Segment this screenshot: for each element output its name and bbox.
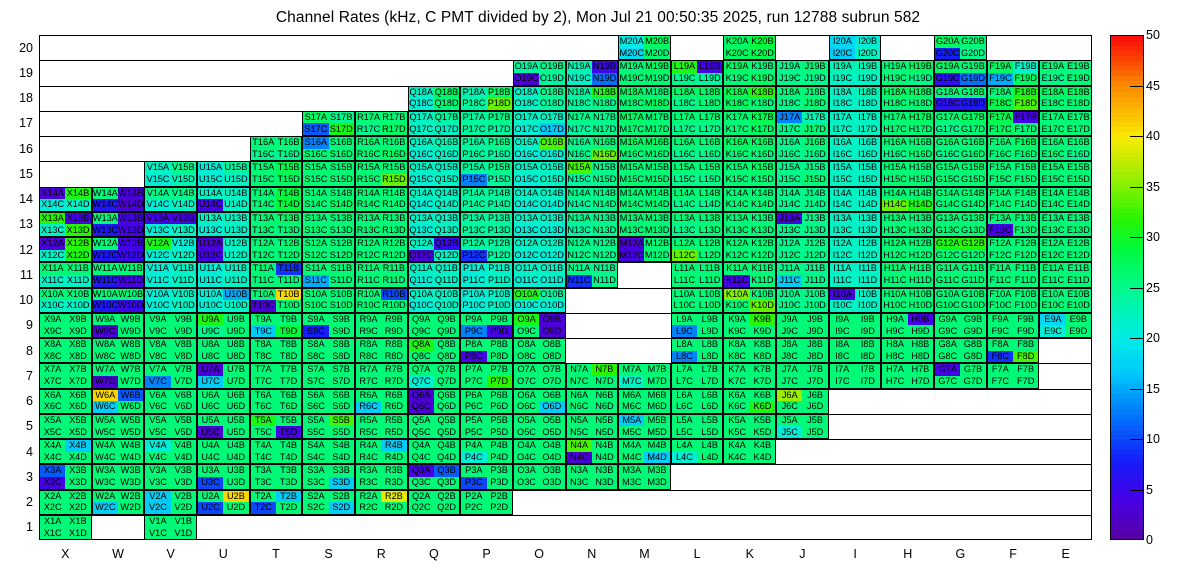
channel-O15D: O15D xyxy=(539,174,564,186)
channel-P14C: P14C xyxy=(461,199,486,211)
channel-K17C: K17C xyxy=(724,123,749,135)
pmt-cell-U8: U8AU8BU8CU8D xyxy=(197,338,250,363)
channel-H19C: H19C xyxy=(882,73,907,85)
channel-N16D: N16D xyxy=(592,149,617,161)
pmt-cell-empty xyxy=(1039,338,1092,363)
channel-S11B: S11B xyxy=(329,263,354,275)
channel-U6A: U6A xyxy=(198,390,223,402)
channel-I13C: I13C xyxy=(830,224,855,236)
channel-Q9D: Q9D xyxy=(434,325,459,337)
pmt-cell-Q7: Q7AQ7BQ7CQ7D xyxy=(408,363,461,388)
pmt-cell-empty xyxy=(987,464,1040,489)
pmt-cell-R8: R8AR8BR8CR8D xyxy=(355,338,408,363)
channel-X12B: X12B xyxy=(65,238,90,250)
channel-S16A: S16A xyxy=(303,137,328,149)
channel-G13B: G13B xyxy=(960,213,985,225)
channel-K4A: K4A xyxy=(724,440,749,452)
pmt-cell-empty xyxy=(881,414,934,439)
channel-P2C: P2C xyxy=(461,502,486,514)
channel-E11A: E11A xyxy=(1040,263,1065,275)
channel-S15B: S15B xyxy=(329,162,354,174)
channel-T8B: T8B xyxy=(276,339,301,351)
channel-K14D: K14D xyxy=(750,199,775,211)
channel-G12C: G12C xyxy=(935,250,960,262)
channel-G7C: G7C xyxy=(935,376,960,388)
channel-V4B: V4B xyxy=(171,440,196,452)
channel-O14C: O14C xyxy=(514,199,539,211)
channel-F19C: F19C xyxy=(988,73,1013,85)
channel-P3A: P3A xyxy=(461,465,486,477)
channel-J11C: J11C xyxy=(777,275,802,287)
channel-G15B: G15B xyxy=(960,162,985,174)
pmt-cell-G20: G20AG20BG20CG20D xyxy=(934,35,987,60)
pmt-cell-M18: M18AM18BM18CM18D xyxy=(618,86,671,111)
pmt-cell-empty xyxy=(1039,439,1092,464)
channel-K13D: K13D xyxy=(750,224,775,236)
channel-V2A: V2A xyxy=(145,491,170,503)
channel-R7D: R7D xyxy=(381,376,406,388)
channel-N18D: N18D xyxy=(592,98,617,110)
pmt-cell-G16: G16AG16BG16CG16D xyxy=(934,136,987,161)
channel-H18B: H18B xyxy=(908,87,933,99)
pmt-cell-T13: T13AT13BT13CT13D xyxy=(250,212,303,237)
channel-X2A: X2A xyxy=(40,491,65,503)
channel-P6C: P6C xyxy=(461,401,486,413)
pmt-cell-U14: U14AU14BU14CU14D xyxy=(197,187,250,212)
channel-P17D: P17D xyxy=(487,123,512,135)
channel-L11D: L11D xyxy=(697,275,722,287)
channel-S17C: S17C xyxy=(303,123,328,135)
pmt-cell-Q2: Q2AQ2BQ2CQ2D xyxy=(408,490,461,515)
channel-O5D: O5D xyxy=(539,426,564,438)
channel-V15B: V15B xyxy=(171,162,196,174)
pmt-cell-P13: P13AP13BP13CP13D xyxy=(460,212,513,237)
pmt-cell-T9: T9AT9BT9CT9D xyxy=(250,313,303,338)
channel-K18C: K18C xyxy=(724,98,749,110)
colorbar-tick-mark xyxy=(1130,389,1144,390)
channel-P17B: P17B xyxy=(487,112,512,124)
channel-Q14C: Q14C xyxy=(409,199,434,211)
channel-S9D: S9D xyxy=(329,325,354,337)
channel-V15A: V15A xyxy=(145,162,170,174)
channel-T8A: T8A xyxy=(251,339,276,351)
channel-O16B: O16B xyxy=(539,137,564,149)
channel-P4D: P4D xyxy=(487,452,512,464)
channel-M5A: M5A xyxy=(619,415,644,427)
channel-G9D: G9D xyxy=(960,325,985,337)
channel-O12D: O12D xyxy=(539,250,564,262)
channel-M13D: M13D xyxy=(644,224,669,236)
channel-X5D: X5D xyxy=(65,426,90,438)
channel-H15D: H15D xyxy=(908,174,933,186)
channel-R4B: R4B xyxy=(381,440,406,452)
pmt-cell-empty xyxy=(566,338,619,363)
pmt-cell-L16: L16AL16BL16CL16D xyxy=(671,136,724,161)
channel-F16C: F16C xyxy=(988,149,1013,161)
pmt-cell-K6: K6AK6BK6CK6D xyxy=(723,389,776,414)
channel-T2D: T2D xyxy=(276,502,301,514)
channel-J16D: J16D xyxy=(802,149,827,161)
pmt-cell-R11: R11AR11BR11CR11D xyxy=(355,262,408,287)
channel-F15D: F15D xyxy=(1013,174,1038,186)
channel-S4D: S4D xyxy=(329,452,354,464)
channel-J9C: J9C xyxy=(777,325,802,337)
channel-N13D: N13D xyxy=(592,224,617,236)
channel-M16B: M16B xyxy=(644,137,669,149)
pmt-cell-empty xyxy=(881,389,934,414)
channel-K11B: K11B xyxy=(750,263,775,275)
channel-P16D: P16D xyxy=(487,149,512,161)
channel-W12D: W12D xyxy=(118,250,143,262)
channel-S17B: S17B xyxy=(329,112,354,124)
channel-W9C: W9C xyxy=(93,325,118,337)
channel-R15D: R15D xyxy=(381,174,406,186)
channel-I10C: I10C xyxy=(830,300,855,312)
channel-I7C: I7C xyxy=(830,376,855,388)
channel-K9D: K9D xyxy=(750,325,775,337)
channel-E17A: E17A xyxy=(1040,112,1065,124)
pmt-cell-empty xyxy=(1039,515,1092,540)
channel-T13B: T13B xyxy=(276,213,301,225)
channel-T12B: T12B xyxy=(276,238,301,250)
y-axis-label-4: 4 xyxy=(5,445,33,459)
x-axis-label-O: O xyxy=(534,547,544,561)
channel-O8D: O8D xyxy=(539,351,564,363)
channel-E15D: E15D xyxy=(1066,174,1091,186)
channel-I20C: I20C xyxy=(830,48,855,60)
pmt-cell-S11: S11AS11BS11CS11D xyxy=(302,262,355,287)
channel-V14D: V14D xyxy=(171,199,196,211)
channel-G7D: G7D xyxy=(960,376,985,388)
channel-I14C: I14C xyxy=(830,199,855,211)
channel-N3A: N3A xyxy=(567,465,592,477)
channel-O4B: O4B xyxy=(539,440,564,452)
channel-L16C: L16C xyxy=(672,149,697,161)
pmt-cell-empty xyxy=(618,288,671,313)
pmt-cell-Q17: Q17AQ17BQ17CQ17D xyxy=(408,111,461,136)
channel-G11A: G11A xyxy=(935,263,960,275)
pmt-cell-I16: I16AI16BI16CI16D xyxy=(829,136,882,161)
channel-J19D: J19D xyxy=(802,73,827,85)
channel-H7D: H7D xyxy=(908,376,933,388)
channel-W13C: W13C xyxy=(93,224,118,236)
x-axis-label-I: I xyxy=(853,547,856,561)
pmt-cell-empty xyxy=(829,464,882,489)
channel-J15D: J15D xyxy=(802,174,827,186)
pmt-cell-H8: H8AH8BH8CH8D xyxy=(881,338,934,363)
channel-Q18C: Q18C xyxy=(409,98,434,110)
channel-E14D: E14D xyxy=(1066,199,1091,211)
channel-S3D: S3D xyxy=(329,477,354,489)
channel-F14D: F14D xyxy=(1013,199,1038,211)
channel-J11A: J11A xyxy=(777,263,802,275)
channel-L13C: L13C xyxy=(672,224,697,236)
channel-J14D: J14D xyxy=(802,199,827,211)
channel-J10C: J10C xyxy=(777,300,802,312)
x-axis-label-Q: Q xyxy=(429,547,439,561)
channel-V3C: V3C xyxy=(145,477,170,489)
channel-I8C: I8C xyxy=(830,351,855,363)
channel-I16A: I16A xyxy=(830,137,855,149)
channel-O18A: O18A xyxy=(514,87,539,99)
pmt-cell-empty xyxy=(934,464,987,489)
channel-T11B: T11B xyxy=(276,263,301,275)
channel-W7D: W7D xyxy=(118,376,143,388)
channel-T6B: T6B xyxy=(276,390,301,402)
channel-U10A: U10A xyxy=(198,289,223,301)
pmt-cell-G15: G15AG15BG15CG15D xyxy=(934,161,987,186)
channel-H9C: H9C xyxy=(882,325,907,337)
channel-T13D: T13D xyxy=(276,224,301,236)
page-title: Channel Rates (kHz, C PMT divided by 2),… xyxy=(0,9,1196,27)
pmt-cell-T10: T10AT10BT10CT10D xyxy=(250,288,303,313)
channel-Q15C: Q15C xyxy=(409,174,434,186)
x-axis-label-E: E xyxy=(1062,547,1070,561)
channel-M6B: M6B xyxy=(644,390,669,402)
channel-J12D: J12D xyxy=(802,250,827,262)
pmt-cell-empty xyxy=(829,490,882,515)
y-axis-label-7: 7 xyxy=(5,369,33,383)
pmt-cell-E10: E10AE10BE10CE10D xyxy=(1039,288,1092,313)
channel-H14D: H14D xyxy=(908,199,933,211)
pmt-cell-empty xyxy=(39,161,92,186)
pmt-cell-U4: U4AU4BU4CU4D xyxy=(197,439,250,464)
pmt-cell-R10: R10AR10BR10CR10D xyxy=(355,288,408,313)
channel-E12A: E12A xyxy=(1040,238,1065,250)
y-axis-label-15: 15 xyxy=(5,167,33,181)
channel-P8B: P8B xyxy=(487,339,512,351)
channel-J10B: J10B xyxy=(802,289,827,301)
channel-M20A: M20A xyxy=(619,36,644,48)
pmt-cell-N7: N7AN7BN7CN7D xyxy=(566,363,619,388)
channel-E9A: E9A xyxy=(1040,314,1065,326)
pmt-cell-X14: X14AX14BX14CX14D xyxy=(39,187,92,212)
channel-P12D: P12D xyxy=(487,250,512,262)
channel-V1C: V1C xyxy=(145,527,170,539)
channel-Q7D: Q7D xyxy=(434,376,459,388)
pmt-cell-V14: V14AV14BV14CV14D xyxy=(144,187,197,212)
channel-E12B: E12B xyxy=(1066,238,1091,250)
pmt-cell-N19: N19AN19BN19CN19D xyxy=(566,60,619,85)
channel-J6C: J6C xyxy=(777,401,802,413)
pmt-cell-G11: G11AG11BG11CG11D xyxy=(934,262,987,287)
channel-F13B: F13B xyxy=(1013,213,1038,225)
channel-S12B: S12B xyxy=(329,238,354,250)
channel-O17C: O17C xyxy=(514,123,539,135)
pmt-cell-V4: V4AV4BV4CV4D xyxy=(144,439,197,464)
channel-H14B: H14B xyxy=(908,188,933,200)
channel-K9A: K9A xyxy=(724,314,749,326)
channel-G16A: G16A xyxy=(935,137,960,149)
channel-I10A: I10A xyxy=(830,289,855,301)
channel-F17A: F17A xyxy=(988,112,1013,124)
channel-M12D: M12D xyxy=(644,250,669,262)
channel-R12D: R12D xyxy=(381,250,406,262)
channel-S2C: S2C xyxy=(303,502,328,514)
channel-N16C: N16C xyxy=(567,149,592,161)
channel-J8B: J8B xyxy=(802,339,827,351)
pmt-cell-H15: H15AH15BH15CH15D xyxy=(881,161,934,186)
channel-Q4A: Q4A xyxy=(409,440,434,452)
pmt-cell-M3: M3AM3BM3CM3D xyxy=(618,464,671,489)
channel-O9D: O9D xyxy=(539,325,564,337)
channel-L5C: L5C xyxy=(672,426,697,438)
channel-Q18B: Q18B xyxy=(434,87,459,99)
channel-X7C: X7C xyxy=(40,376,65,388)
channel-N4B: N4B xyxy=(592,440,617,452)
channel-P18B: P18B xyxy=(487,87,512,99)
channel-L11A: L11A xyxy=(672,263,697,275)
pmt-cell-empty xyxy=(39,60,92,85)
channel-X3D: X3D xyxy=(65,477,90,489)
pmt-cell-J6: J6AJ6BJ6CJ6D xyxy=(776,389,829,414)
channel-V11A: V11A xyxy=(145,263,170,275)
channel-T4B: T4B xyxy=(276,440,301,452)
channel-L9A: L9A xyxy=(672,314,697,326)
pmt-cell-K4: K4AK4BK4CK4D xyxy=(723,439,776,464)
channel-N6A: N6A xyxy=(567,390,592,402)
channel-V1B: V1B xyxy=(171,516,196,528)
channel-T3A: T3A xyxy=(251,465,276,477)
channel-Q14D: Q14D xyxy=(434,199,459,211)
channel-O5C: O5C xyxy=(514,426,539,438)
channel-Q11C: Q11C xyxy=(409,275,434,287)
channel-J12C: J12C xyxy=(777,250,802,262)
channel-M14C: M14C xyxy=(619,199,644,211)
channel-O3C: O3C xyxy=(514,477,539,489)
channel-V1D: V1D xyxy=(171,527,196,539)
channel-M6D: M6D xyxy=(644,401,669,413)
channel-J18B: J18B xyxy=(802,87,827,99)
channel-P17C: P17C xyxy=(461,123,486,135)
channel-V14A: V14A xyxy=(145,188,170,200)
channel-I17D: I17D xyxy=(855,123,880,135)
channel-K14A: K14A xyxy=(724,188,749,200)
pmt-cell-empty xyxy=(1039,490,1092,515)
channel-G18B: G18B xyxy=(960,87,985,99)
pmt-cell-V2: V2AV2BV2CV2D xyxy=(144,490,197,515)
channel-R9C: R9C xyxy=(356,325,381,337)
channel-M12B: M12B xyxy=(644,238,669,250)
channel-S2D: S2D xyxy=(329,502,354,514)
channel-X9C: X9C xyxy=(40,325,65,337)
channel-O18C: O18C xyxy=(514,98,539,110)
y-axis-label-13: 13 xyxy=(5,217,33,231)
pmt-cell-X4: X4AX4BX4CX4D xyxy=(39,439,92,464)
channel-E10B: E10B xyxy=(1066,289,1091,301)
channel-K4D: K4D xyxy=(750,452,775,464)
pmt-cell-L14: L14AL14BL14CL14D xyxy=(671,187,724,212)
pmt-cell-R15: R15AR15BR15CR15D xyxy=(355,161,408,186)
channel-L12A: L12A xyxy=(672,238,697,250)
pmt-cell-T2: T2AT2BT2CT2D xyxy=(250,490,303,515)
channel-R10C: R10C xyxy=(356,300,381,312)
x-axis-label-K: K xyxy=(746,547,754,561)
channel-O7D: O7D xyxy=(539,376,564,388)
channel-F9D: F9D xyxy=(1013,325,1038,337)
channel-Q2A: Q2A xyxy=(409,491,434,503)
channel-R10B: R10B xyxy=(381,289,406,301)
channel-M12C: M12C xyxy=(619,250,644,262)
x-axis-label-J: J xyxy=(799,547,805,561)
channel-N16A: N16A xyxy=(567,137,592,149)
channel-V14B: V14B xyxy=(171,188,196,200)
channel-U3C: U3C xyxy=(198,477,223,489)
channel-S5B: S5B xyxy=(329,415,354,427)
channel-Q6D: Q6D xyxy=(434,401,459,413)
channel-S2B: S2B xyxy=(329,491,354,503)
channel-M3B: M3B xyxy=(644,465,669,477)
channel-X13C: X13C xyxy=(40,224,65,236)
channel-W11A: W11A xyxy=(93,263,118,275)
pmt-cell-T11: T11AT11BT11CT11D xyxy=(250,262,303,287)
channel-X1C: X1C xyxy=(40,527,65,539)
channel-E15A: E15A xyxy=(1040,162,1065,174)
pmt-cell-empty xyxy=(987,515,1040,540)
pmt-cell-G9: G9AG9BG9CG9D xyxy=(934,313,987,338)
channel-R17B: R17B xyxy=(381,112,406,124)
channel-P8C: P8C xyxy=(461,351,486,363)
pmt-cell-empty xyxy=(92,136,145,161)
pmt-cell-empty xyxy=(302,35,355,60)
pmt-cell-Q12: Q12AQ12BQ12CQ12D xyxy=(408,237,461,262)
channel-K16B: K16B xyxy=(750,137,775,149)
pmt-cell-Q6: Q6AQ6BQ6CQ6D xyxy=(408,389,461,414)
channel-H10A: H10A xyxy=(882,289,907,301)
channel-S12D: S12D xyxy=(329,250,354,262)
channel-X7A: X7A xyxy=(40,364,65,376)
channel-P8D: P8D xyxy=(487,351,512,363)
channel-G20D: G20D xyxy=(960,48,985,60)
pmt-cell-K17: K17AK17BK17CK17D xyxy=(723,111,776,136)
channel-R14A: R14A xyxy=(356,188,381,200)
y-axis-label-5: 5 xyxy=(5,419,33,433)
channel-X3B: X3B xyxy=(65,465,90,477)
channel-G14D: G14D xyxy=(960,199,985,211)
pmt-cell-S2: S2AS2BS2CS2D xyxy=(302,490,355,515)
y-axis: 2019181716151413121110987654321 xyxy=(0,35,33,540)
pmt-cell-empty xyxy=(302,515,355,540)
pmt-cell-I20: I20AI20BI20CI20D xyxy=(829,35,882,60)
channel-O12C: O12C xyxy=(514,250,539,262)
channel-R5D: R5D xyxy=(381,426,406,438)
channel-I7D: I7D xyxy=(855,376,880,388)
channel-L18A: L18A xyxy=(672,87,697,99)
y-axis-label-3: 3 xyxy=(5,470,33,484)
channel-X10B: X10B xyxy=(65,289,90,301)
channel-P7C: P7C xyxy=(461,376,486,388)
pmt-cell-S15: S15AS15BS15CS15D xyxy=(302,161,355,186)
channel-S7B: S7B xyxy=(329,364,354,376)
channel-I15B: I15B xyxy=(855,162,880,174)
channel-H7C: H7C xyxy=(882,376,907,388)
channel-O17A: O17A xyxy=(514,112,539,124)
pmt-cell-empty xyxy=(250,60,303,85)
y-axis-label-17: 17 xyxy=(5,116,33,130)
channel-X10C: X10C xyxy=(40,300,65,312)
pmt-cell-empty xyxy=(144,86,197,111)
channel-J16C: J16C xyxy=(777,149,802,161)
channel-K6D: K6D xyxy=(750,401,775,413)
channel-J18C: J18C xyxy=(777,98,802,110)
channel-O15B: O15B xyxy=(539,162,564,174)
channel-R13D: R13D xyxy=(381,224,406,236)
pmt-cell-empty xyxy=(460,60,513,85)
pmt-cell-O8: O8AO8BO8CO8D xyxy=(513,338,566,363)
channel-F14C: F14C xyxy=(988,199,1013,211)
channel-O7C: O7C xyxy=(514,376,539,388)
pmt-cell-empty xyxy=(39,136,92,161)
